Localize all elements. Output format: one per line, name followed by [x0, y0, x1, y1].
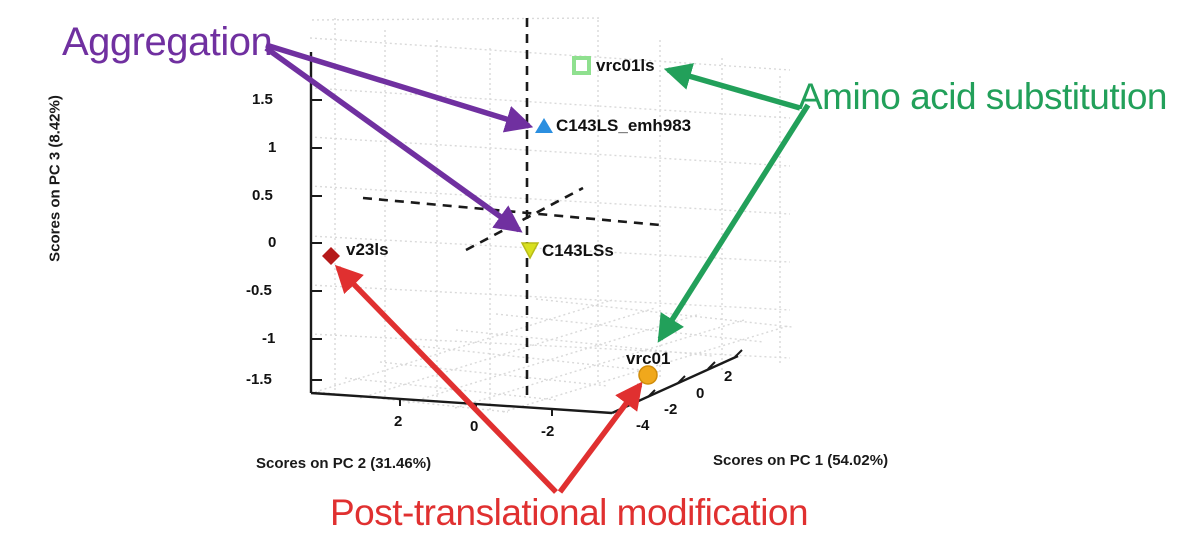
post-arrow-to-vrc01: [560, 385, 640, 492]
point-label-vrc01ls: vrc01ls: [596, 56, 655, 76]
point-label-vrc01: vrc01: [626, 349, 670, 369]
pc1-tick-label: 2: [724, 368, 732, 385]
axis-lines: [311, 52, 738, 413]
pc1-tick-label: -2: [664, 401, 677, 418]
grid-lines: [310, 18, 792, 412]
pc1-tick-label: -4: [636, 417, 649, 434]
pc3-tick-label: -1.5: [246, 371, 272, 388]
point-label-c143lss: C143LSs: [542, 241, 614, 261]
pc2-tick-label: -2: [541, 423, 554, 440]
pc3-axis-title: Scores on PC 3 (8.42%): [47, 64, 64, 294]
marker-c143ls-emh983[interactable]: [535, 118, 553, 133]
pc1-tick-label: 0: [696, 385, 704, 402]
amino-acid-substitution-arrows: [660, 70, 808, 339]
amino-arrow-to-vrc01: [660, 105, 808, 339]
pc2-axis-title: Scores on PC 2 (31.46%): [256, 455, 431, 472]
pc3-tick-label: -0.5: [246, 282, 272, 299]
annotation-aggregation: Aggregation: [62, 20, 272, 65]
annotation-amino-acid-substitution: Amino acid substitution: [798, 76, 1167, 118]
pc2-tick-label: 2: [394, 413, 402, 430]
marker-vrc01ls[interactable]: [574, 58, 589, 73]
aggregation-arrow-to-c143ls-emh983: [266, 45, 529, 126]
pc3-tick-label: 0.5: [252, 187, 273, 204]
point-label-c143ls-emh983: C143LS_emh983: [556, 116, 691, 136]
pc2-tick-label: 0: [470, 418, 478, 435]
marker-c143lss[interactable]: [522, 243, 538, 258]
aggregation-arrow-to-c143lss: [266, 48, 519, 230]
point-label-v23ls: v23ls: [346, 240, 389, 260]
pc3-tick-label: 1: [268, 139, 276, 156]
figure-root: Aggregation Amino acid substitution Post…: [0, 0, 1200, 554]
marker-v23ls[interactable]: [322, 247, 340, 265]
pc1-axis-title: Scores on PC 1 (54.02%): [713, 452, 888, 469]
pc3-tick-label: 1.5: [252, 91, 273, 108]
pc3-tick-label: -1: [262, 330, 275, 347]
amino-arrow-to-vrc01ls: [668, 70, 800, 108]
pc3-tick-marks: [311, 100, 322, 380]
pc3-tick-label: 0: [268, 234, 276, 251]
horizontal-reference-line: [363, 198, 660, 225]
annotation-post-translational-modification: Post-translational modification: [330, 492, 808, 534]
